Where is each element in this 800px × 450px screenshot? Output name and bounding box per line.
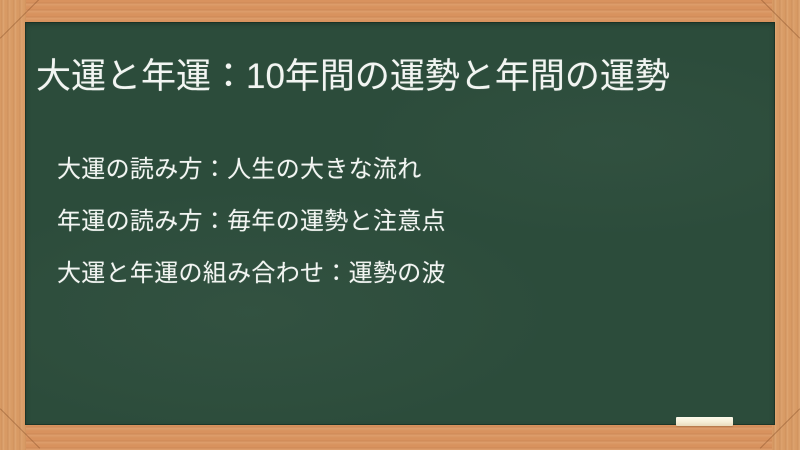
frame-rail-bottom	[0, 424, 800, 450]
frame-rail-top	[0, 0, 800, 23]
chalkboard-slide: 大運と年運：10年間の運勢と年間の運勢 大運の読み方：人生の大きな流れ 年運の読…	[0, 0, 800, 450]
chalk-stick-icon	[676, 417, 733, 426]
frame-rail-left	[0, 0, 26, 450]
bullet-item-3: 大運と年運の組み合わせ：運勢の波	[57, 248, 747, 300]
bullet-item-1: 大運の読み方：人生の大きな流れ	[57, 144, 747, 196]
bullet-item-2: 年運の読み方：毎年の運勢と注意点	[57, 196, 747, 248]
chalkboard-surface: 大運と年運：10年間の運勢と年間の運勢 大運の読み方：人生の大きな流れ 年運の読…	[25, 22, 775, 425]
bullet-list: 大運の読み方：人生の大きな流れ 年運の読み方：毎年の運勢と注意点 大運と年運の組…	[57, 144, 747, 300]
slide-title: 大運と年運：10年間の運勢と年間の運勢	[36, 55, 756, 100]
frame-rail-right	[772, 0, 800, 450]
